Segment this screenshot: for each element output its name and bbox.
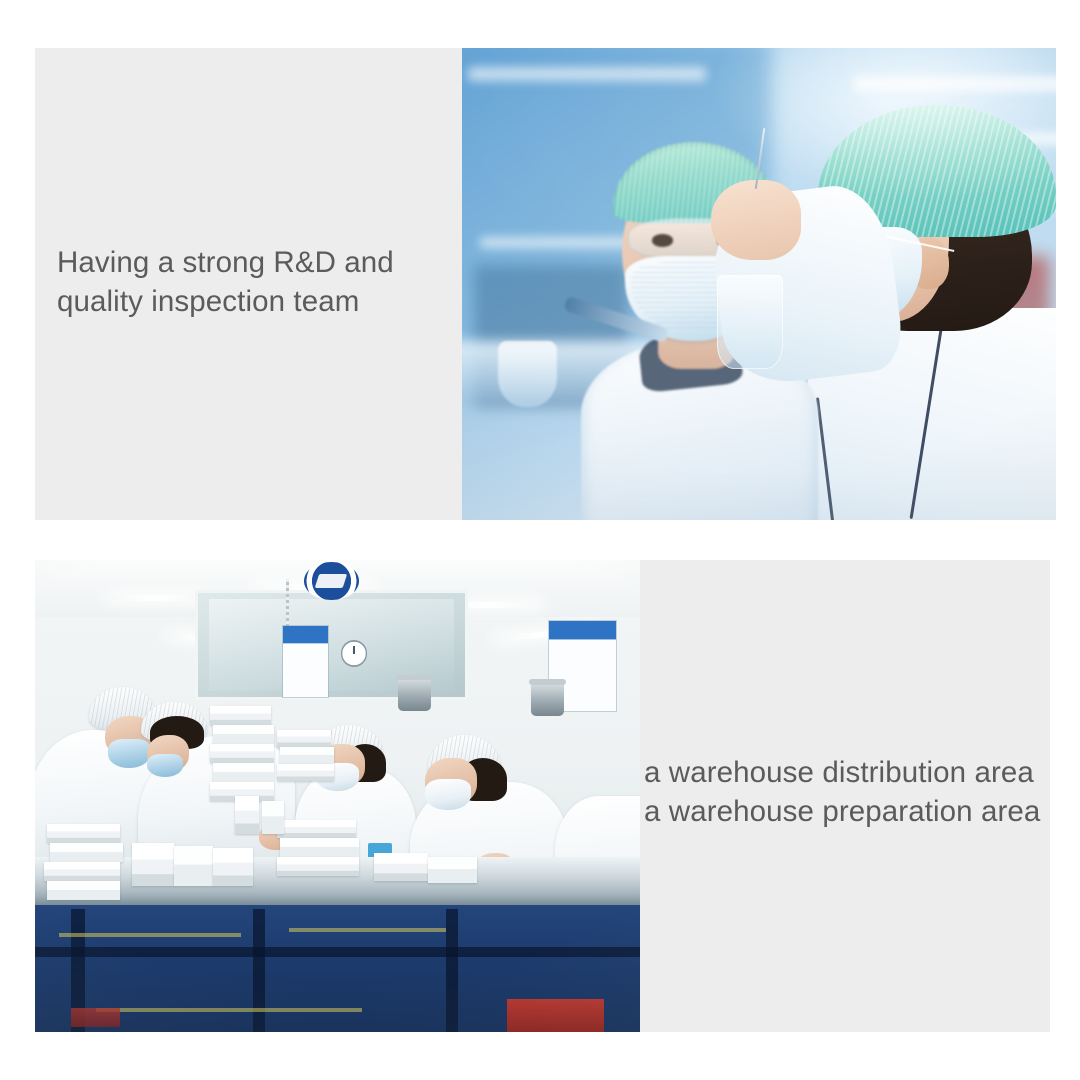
warehouse-worker-2-face-mask bbox=[147, 754, 183, 778]
lab-quality-inspection-photo bbox=[462, 48, 1056, 520]
red-bin-right bbox=[507, 999, 604, 1032]
warehouse-worker-4-face-mask bbox=[425, 779, 470, 810]
wall-notice-board-1 bbox=[283, 626, 328, 697]
carton-stack-back-1 bbox=[210, 706, 271, 725]
lab-worker-left-eye-left bbox=[652, 234, 673, 246]
floor-marking-3 bbox=[96, 1008, 362, 1012]
carton-upright-1 bbox=[132, 843, 174, 885]
carton-center-2 bbox=[280, 838, 359, 857]
caption-text-rnd: Having a strong R&D and quality inspecti… bbox=[57, 243, 447, 321]
floor-rail-horizontal bbox=[35, 947, 640, 957]
carton-front-2 bbox=[50, 843, 123, 862]
floor-marking-2 bbox=[289, 928, 446, 932]
warehouse-worker-1-face-mask bbox=[108, 739, 150, 767]
ceiling-light-1 bbox=[108, 595, 205, 601]
carton-center-3 bbox=[277, 857, 359, 876]
lab-vial bbox=[717, 275, 782, 369]
carton-right-2 bbox=[428, 857, 476, 883]
carton-stack-back-2 bbox=[213, 725, 274, 744]
carton-stack-back-3 bbox=[210, 744, 274, 763]
carton-stack-mid-1 bbox=[277, 730, 331, 747]
table-leg-2 bbox=[253, 909, 265, 1032]
carton-front-1 bbox=[47, 824, 120, 843]
lab-flask bbox=[498, 341, 557, 407]
company-logo-sign bbox=[304, 562, 358, 600]
carton-front-4 bbox=[47, 881, 120, 900]
caption-text-warehouse: a warehouse distribution area a warehous… bbox=[644, 753, 1044, 831]
floor-marking-1 bbox=[59, 933, 241, 937]
carton-upright-3 bbox=[213, 848, 252, 886]
carton-center-1 bbox=[277, 820, 356, 839]
carton-bottle-1 bbox=[235, 796, 259, 834]
lab-shelf-upper bbox=[468, 67, 706, 81]
carton-bottle-2 bbox=[262, 801, 284, 834]
carton-right-1 bbox=[374, 853, 428, 881]
lab-gloved-hand bbox=[711, 180, 800, 260]
page-canvas: Having a strong R&D and quality inspecti… bbox=[0, 0, 1080, 1080]
carton-stack-mid-3 bbox=[277, 764, 334, 781]
warehouse-packing-photo bbox=[35, 560, 640, 1032]
metal-container-1 bbox=[398, 678, 431, 711]
carton-upright-2 bbox=[174, 846, 213, 886]
carton-stack-mid-2 bbox=[280, 747, 334, 764]
carton-stack-back-4 bbox=[213, 763, 274, 782]
metal-container-2 bbox=[531, 683, 564, 716]
carton-front-3 bbox=[44, 862, 120, 881]
table-leg-3 bbox=[446, 909, 458, 1032]
wall-clock bbox=[341, 640, 368, 666]
red-bin-left bbox=[71, 1008, 119, 1027]
